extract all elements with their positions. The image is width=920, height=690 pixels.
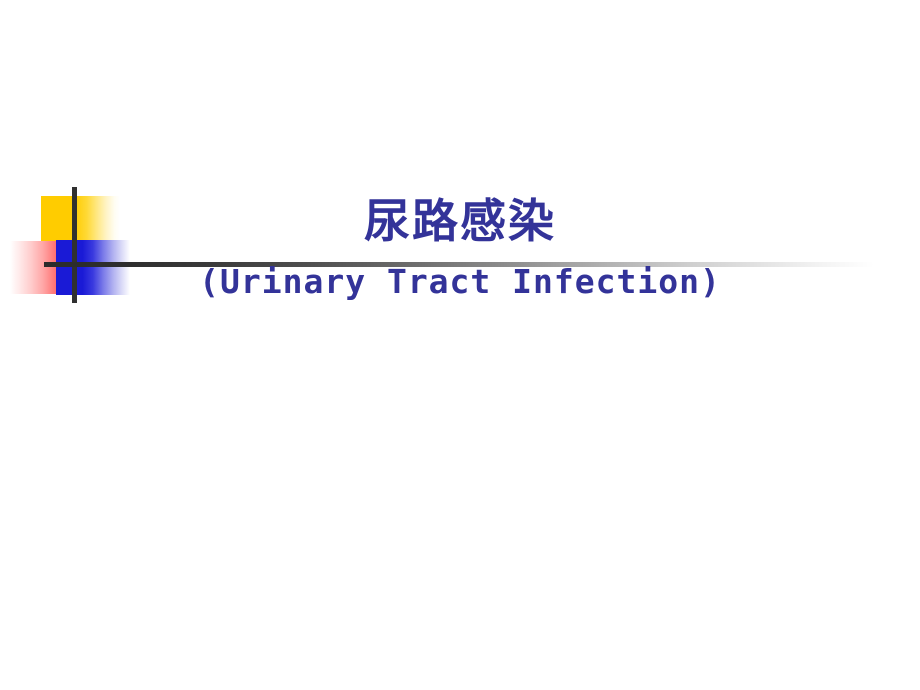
page-subtitle: (Urinary Tract Infection) — [0, 248, 920, 302]
slide-canvas: 尿路感染 (Urinary Tract Infection) — [0, 0, 920, 690]
page-title: 尿路感染 — [0, 196, 920, 248]
title-block: 尿路感染 (Urinary Tract Infection) — [0, 196, 920, 301]
